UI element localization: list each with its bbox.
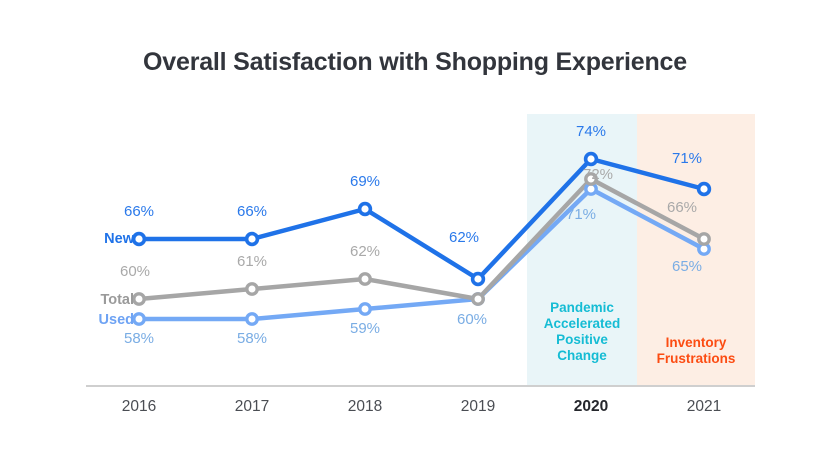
x-axis-tick-2019: 2019	[423, 398, 533, 416]
pandemic-annotation-line-4: Change	[517, 348, 647, 364]
value-label-used-2017: 58%	[222, 330, 282, 347]
inventory-annotation-text: Inventory Frustrations	[637, 335, 755, 367]
value-label-total-2017: 61%	[222, 253, 282, 270]
pandemic-annotation-line-3: Positive	[517, 332, 647, 348]
value-label-new-2020: 74%	[561, 123, 621, 140]
x-axis-tick-2017: 2017	[197, 398, 307, 416]
value-label-used-2020: 71%	[551, 206, 611, 223]
value-label-used-2016: 58%	[109, 330, 169, 347]
series-label-new: New	[76, 231, 134, 247]
value-label-total-2020: 72%	[568, 166, 628, 183]
x-axis-tick-2020: 2020	[536, 398, 646, 416]
value-label-new-2021: 71%	[657, 150, 717, 167]
x-axis-tick-2016: 2016	[84, 398, 194, 416]
value-label-used-2021: 65%	[657, 258, 717, 275]
value-label-used-2018: 59%	[335, 320, 395, 337]
value-label-new-2018: 69%	[335, 173, 395, 190]
inventory-annotation-line-2: Frustrations	[637, 351, 755, 367]
value-label-total-2018: 62%	[335, 243, 395, 260]
value-label-new-2019: 62%	[434, 229, 494, 246]
x-axis-tick-2018: 2018	[310, 398, 420, 416]
value-label-total-2016: 60%	[105, 263, 165, 280]
pandemic-annotation-text: Pandemic Accelerated Positive Change	[517, 300, 647, 364]
inventory-annotation-line-1: Inventory	[637, 335, 755, 351]
chart-container: Overall Satisfaction with Shopping Exper…	[0, 0, 830, 467]
x-axis-line	[86, 385, 755, 387]
pandemic-annotation-line-1: Pandemic	[517, 300, 647, 316]
series-label-total: Total	[76, 292, 134, 308]
pandemic-annotation-line-2: Accelerated	[517, 316, 647, 332]
value-label-new-2017: 66%	[222, 203, 282, 220]
x-axis-tick-2021: 2021	[649, 398, 759, 416]
series-label-used: Used	[76, 312, 134, 328]
value-label-total-2021: 66%	[652, 199, 712, 216]
value-label-used-2019: 60%	[442, 311, 502, 328]
value-label-new-2016: 66%	[109, 203, 169, 220]
